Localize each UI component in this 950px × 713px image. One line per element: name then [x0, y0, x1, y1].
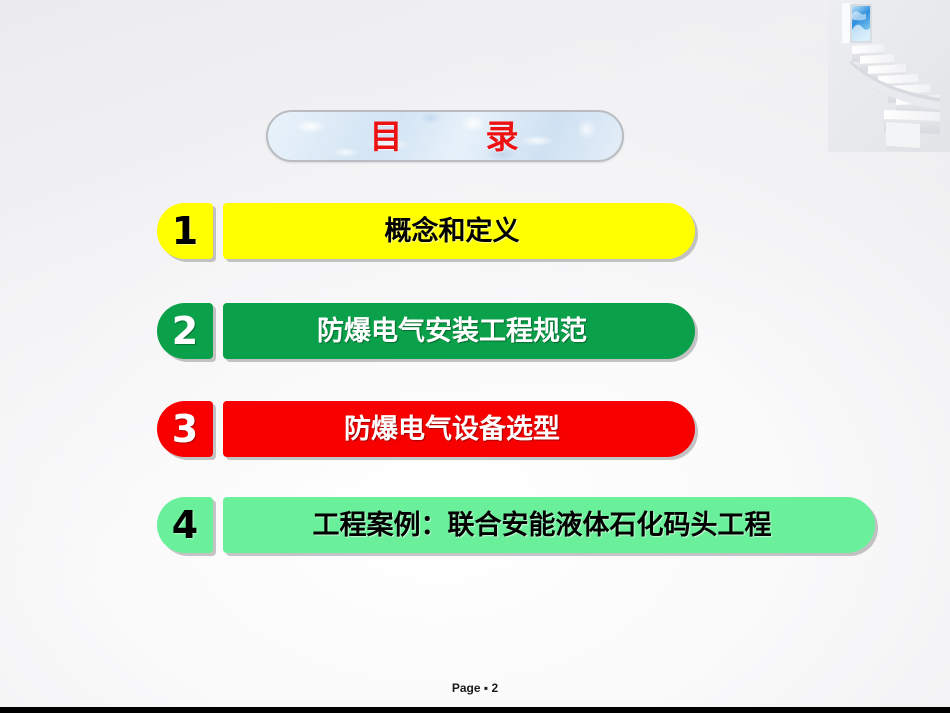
agenda-number-2: 2 [172, 312, 198, 350]
agenda-number-badge-4[interactable]: 4 [157, 497, 213, 553]
bottom-black-strip [0, 707, 950, 713]
slide-canvas: 目 录 1 概念和定义 2 防爆电气安装工程规范 3 防爆电气设备选型 4 [0, 0, 950, 713]
agenda-number-badge-2[interactable]: 2 [157, 303, 213, 359]
agenda-bar-3[interactable]: 防爆电气设备选型 [223, 401, 695, 457]
slide-title-pill: 目 录 [266, 110, 624, 162]
stairs-to-open-door-icon [828, 0, 950, 152]
agenda-label-3: 防爆电气设备选型 [344, 416, 560, 443]
page-title: 目 录 [370, 120, 521, 153]
slide-footer: Page ▪ 2 [0, 681, 950, 695]
agenda-label-2: 防爆电气安装工程规范 [317, 318, 587, 345]
agenda-bar-2[interactable]: 防爆电气安装工程规范 [223, 303, 695, 359]
agenda-bar-1[interactable]: 概念和定义 [223, 203, 695, 259]
agenda-bar-4[interactable]: 工程案例：联合安能液体石化码头工程 [223, 497, 875, 553]
agenda-label-4: 工程案例：联合安能液体石化码头工程 [313, 512, 772, 539]
agenda-number-4: 4 [172, 506, 198, 544]
agenda-number-3: 3 [172, 410, 198, 448]
agenda-label-1: 概念和定义 [385, 218, 520, 245]
agenda-number-badge-3[interactable]: 3 [157, 401, 213, 457]
agenda-number-1: 1 [172, 212, 198, 250]
agenda-number-badge-1[interactable]: 1 [157, 203, 213, 259]
